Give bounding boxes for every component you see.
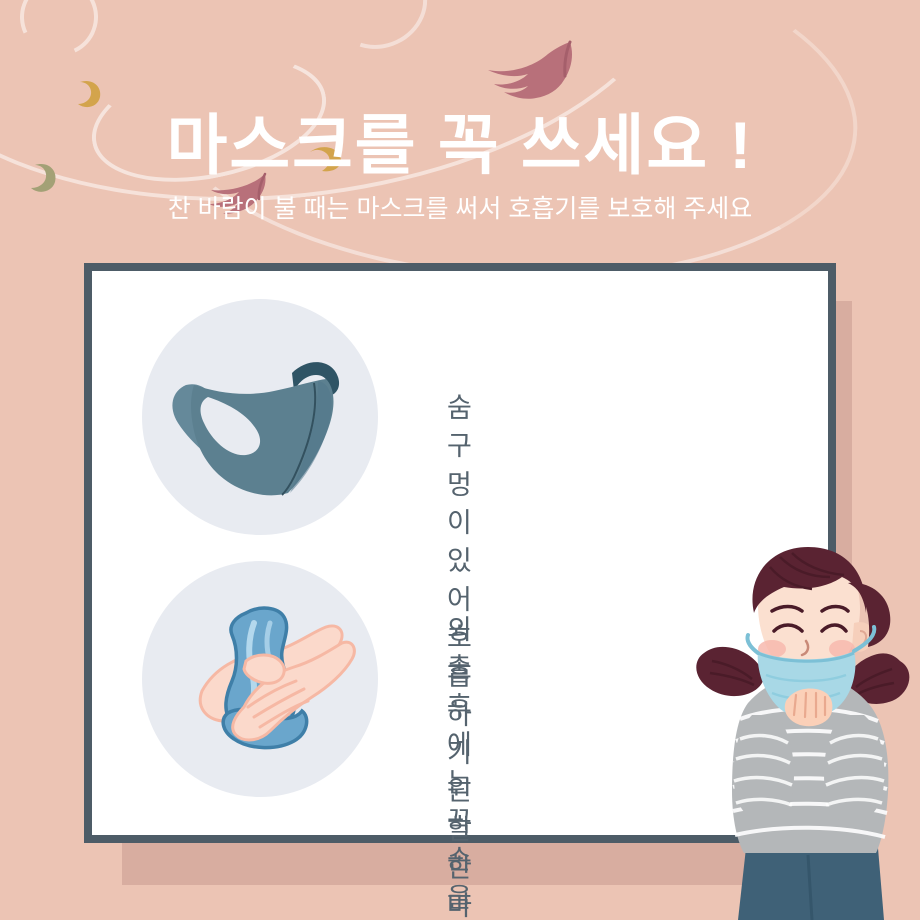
maple-leaf-top-right-icon (478, 38, 588, 118)
page-subtitle: 찬 바람이 불 때는 마스크를 써서 호흡기를 보호해 주세요 (0, 194, 920, 224)
decorative-swirl-5 (9, 0, 109, 67)
tip-text-handwashing: 외출 후에는 꼭 손을 깨끗하게씻어주는 습관 잊지마세요~잉 (447, 611, 472, 920)
cloth-mask-icon (142, 299, 378, 535)
poster-canvas: 마스크를 꼭 쓰세요 ! 찬 바람이 불 때는 마스크를 써서 호흡기를 보호해… (0, 0, 920, 920)
crescent-leaf-gold-top-icon (72, 76, 106, 110)
decorative-swirl-6 (316, 0, 442, 65)
handwashing-icon (142, 561, 378, 797)
page-title: 마스크를 꼭 쓰세요 ! (0, 112, 920, 178)
content-card: 숨구멍이 있어 호흡하기 원할한 마스크를 사용하세요~ (84, 263, 836, 843)
